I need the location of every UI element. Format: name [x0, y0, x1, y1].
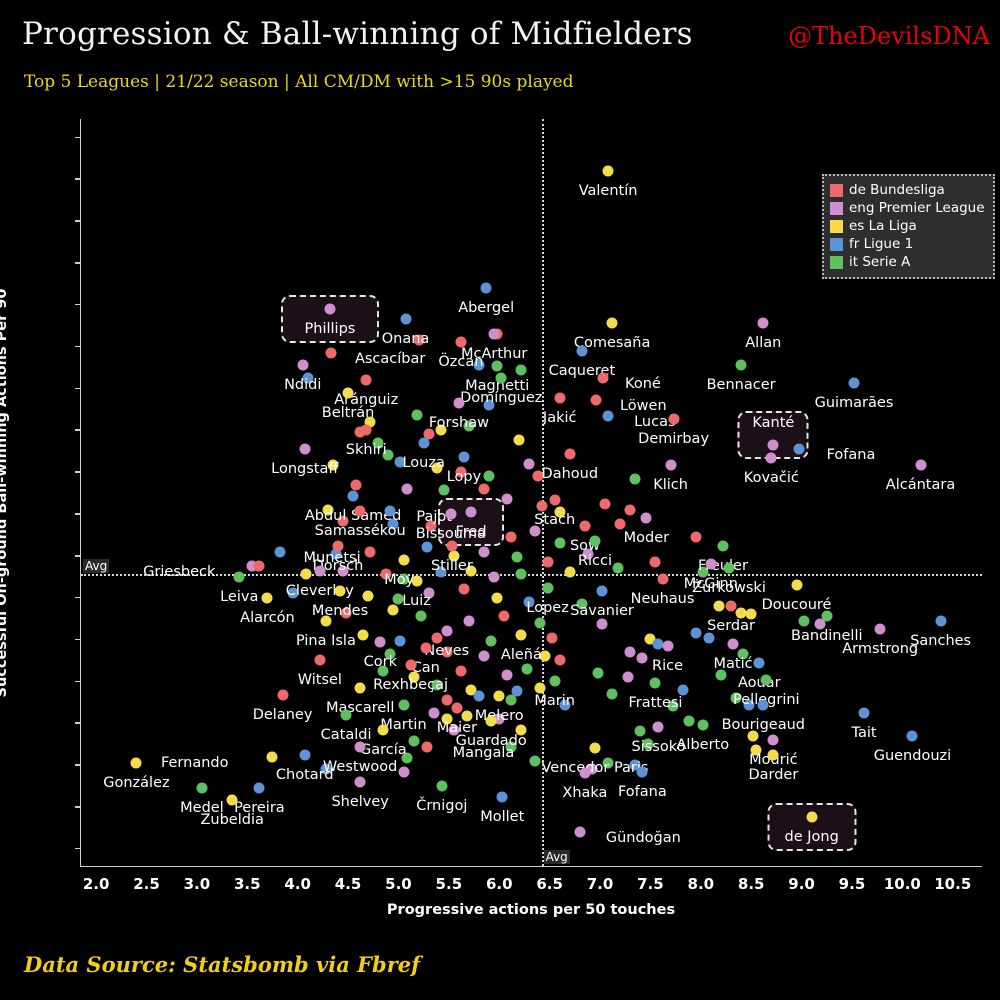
point-label: Sissoko: [631, 739, 685, 755]
scatter-point[interactable]: [455, 666, 466, 677]
point-label: Shelvey: [331, 794, 388, 810]
scatter-point[interactable]: [724, 563, 735, 574]
scatter-point[interactable]: [607, 688, 618, 699]
scatter-point[interactable]: [529, 755, 540, 766]
scatter-point[interactable]: [534, 682, 545, 693]
scatter-point[interactable]: [438, 485, 449, 496]
scatter-point[interactable]: [705, 559, 716, 570]
average-y-line: [81, 574, 982, 576]
scatter-point[interactable]: [196, 783, 207, 794]
scatter-point[interactable]: [564, 448, 575, 459]
point-label: Frattesi: [628, 695, 682, 711]
scatter-point[interactable]: [446, 540, 457, 551]
scatter-point[interactable]: [365, 546, 376, 557]
y-axis-tick-mark: [75, 681, 81, 683]
page-subtitle: Top 5 Leagues | 21/22 season | All CM/DM…: [24, 72, 574, 92]
point-label: Moder: [624, 530, 669, 546]
scatter-point[interactable]: [761, 674, 772, 685]
scatter-point[interactable]: [598, 372, 609, 383]
scatter-point[interactable]: [479, 546, 490, 557]
point-label: Löwen: [620, 398, 667, 414]
scatter-point[interactable]: [405, 659, 416, 670]
scatter-point[interactable]: [492, 592, 503, 603]
scatter-point[interactable]: [395, 636, 406, 647]
scatter-point[interactable]: [484, 471, 495, 482]
scatter-point[interactable]: [697, 719, 708, 730]
scatter-point[interactable]: [635, 726, 646, 737]
scatter-point[interactable]: [600, 498, 611, 509]
scatter-point[interactable]: [662, 641, 673, 652]
y-axis-label: Successful On-ground Ball-winning Action…: [0, 119, 14, 867]
point-label: Aleñá: [501, 647, 542, 663]
scatter-point[interactable]: [576, 345, 587, 356]
point-label: Bennacer: [707, 377, 776, 393]
legend-label: fr Ligue 1: [849, 236, 913, 252]
x-axis-tick: 2.5: [133, 875, 160, 893]
point-label: Munetsi: [304, 550, 361, 566]
point-label: Leiva: [220, 589, 258, 605]
scatter-point[interactable]: [668, 414, 679, 425]
scatter-point[interactable]: [546, 632, 557, 643]
scatter-point[interactable]: [453, 398, 464, 409]
x-axis-tick: 7.5: [637, 875, 664, 893]
scatter-point[interactable]: [875, 624, 886, 635]
scatter-point[interactable]: [486, 716, 497, 727]
scatter-point[interactable]: [299, 443, 310, 454]
point-label: Jakić: [543, 410, 577, 426]
scatter-point[interactable]: [489, 571, 500, 582]
x-axis-tick: 4.5: [335, 875, 362, 893]
scatter-point[interactable]: [363, 590, 374, 601]
scatter-point[interactable]: [398, 699, 409, 710]
point-label: Fernando: [161, 755, 229, 771]
y-axis-tick-mark: [75, 388, 81, 390]
scatter-point[interactable]: [542, 557, 553, 568]
scatter-point[interactable]: [320, 616, 331, 627]
scatter-point[interactable]: [522, 663, 533, 674]
scatter-point[interactable]: [455, 336, 466, 347]
scatter-point[interactable]: [436, 780, 447, 791]
scatter-point[interactable]: [766, 452, 777, 463]
scatter-point[interactable]: [791, 580, 802, 591]
legend-item[interactable]: fr Ligue 1: [830, 235, 985, 253]
point-label: Lopy: [447, 469, 481, 485]
scatter-point[interactable]: [534, 617, 545, 628]
y-axis-tick-mark: [75, 429, 81, 431]
point-label: Kovačić: [744, 470, 799, 486]
point-label: Stach: [534, 512, 575, 528]
scatter-point[interactable]: [589, 535, 600, 546]
scatter-point[interactable]: [300, 569, 311, 580]
x-axis-tick: 5.0: [385, 875, 412, 893]
scatter-point[interactable]: [637, 766, 648, 777]
legend-label: eng Premier League: [849, 200, 985, 216]
point-label: Luiz: [402, 593, 431, 609]
point-label: Beltrán: [322, 405, 375, 421]
y-axis-tick-mark: [75, 137, 81, 139]
scatter-point[interactable]: [474, 691, 485, 702]
scatter-point[interactable]: [375, 636, 386, 647]
x-axis-tick: 10.0: [884, 875, 921, 893]
scatter-point[interactable]: [713, 600, 724, 611]
scatter-point[interactable]: [506, 532, 517, 543]
scatter-point[interactable]: [935, 616, 946, 627]
point-label: Louza: [402, 455, 444, 471]
scatter-point[interactable]: [355, 741, 366, 752]
scatter-point[interactable]: [650, 557, 661, 568]
scatter-point[interactable]: [458, 452, 469, 463]
y-axis-tick-mark: [75, 220, 81, 222]
scatter-point[interactable]: [859, 708, 870, 719]
scatter-point[interactable]: [690, 627, 701, 638]
point-label: García: [360, 742, 407, 758]
scatter-point[interactable]: [254, 783, 265, 794]
scatter-point[interactable]: [623, 672, 634, 683]
x-axis-tick: 7.0: [587, 875, 614, 893]
scatter-point[interactable]: [613, 563, 624, 574]
scatter-point[interactable]: [542, 582, 553, 593]
scatter-point[interactable]: [234, 571, 245, 582]
legend-label: es La Liga: [849, 218, 917, 234]
scatter-point[interactable]: [415, 610, 426, 621]
scatter-point[interactable]: [335, 585, 346, 596]
scatter-point[interactable]: [401, 483, 412, 494]
scatter-point[interactable]: [385, 506, 396, 517]
x-axis-tick: 6.0: [486, 875, 513, 893]
scatter-point[interactable]: [806, 811, 817, 822]
scatter-point[interactable]: [497, 791, 508, 802]
point-label: Ascacíbar: [355, 351, 425, 367]
point-label: Lopez: [526, 600, 568, 616]
scatter-point[interactable]: [514, 435, 525, 446]
scatter-point[interactable]: [355, 506, 366, 517]
scatter-point[interactable]: [314, 655, 325, 666]
scatter-point[interactable]: [421, 542, 432, 553]
data-source-note: Data Source: Statsbomb via Fbref: [24, 952, 420, 977]
point-label: Kanté: [752, 415, 794, 431]
scatter-point[interactable]: [615, 518, 626, 529]
scatter-point[interactable]: [227, 795, 238, 806]
scatter-point[interactable]: [398, 554, 409, 565]
scatter-point[interactable]: [665, 460, 676, 471]
scatter-point[interactable]: [267, 751, 278, 762]
chart-root: Progression & Ball-winning of Midfielder…: [0, 0, 1000, 1000]
point-label: Guimarães: [815, 395, 894, 411]
scatter-point[interactable]: [262, 592, 273, 603]
scatter-point[interactable]: [131, 758, 142, 769]
y-axis-tick-mark: [75, 304, 81, 306]
scatter-point[interactable]: [625, 504, 636, 515]
x-axis-tick: 8.5: [738, 875, 765, 893]
scatter-point[interactable]: [607, 318, 618, 329]
point-label: Rexhbeçaj: [373, 677, 448, 693]
scatter-point[interactable]: [277, 690, 288, 701]
scatter-point[interactable]: [441, 694, 452, 705]
legend: de Bundesligaeng Premier Leaguees La Lig…: [822, 174, 995, 279]
scatter-point[interactable]: [355, 776, 366, 787]
point-label: Allan: [745, 335, 781, 351]
y-axis-tick-mark: [75, 597, 81, 599]
point-label: Ricci: [578, 553, 612, 569]
point-label: Pina Isla: [296, 633, 356, 649]
y-axis-tick-mark: [75, 764, 81, 766]
point-label: Mendes: [312, 603, 368, 619]
x-axis-label: Progressive actions per 50 touches: [80, 902, 982, 918]
scatter-point[interactable]: [717, 540, 728, 551]
point-label: Demirbay: [638, 431, 709, 447]
scatter-point[interactable]: [593, 667, 604, 678]
point-label: Savanier: [570, 603, 634, 619]
point-label: Serdar: [707, 618, 755, 634]
average-x-line: [542, 119, 544, 866]
scatter-point[interactable]: [502, 493, 513, 504]
scatter-point[interactable]: [589, 743, 600, 754]
scatter-point[interactable]: [625, 646, 636, 657]
scatter-point[interactable]: [653, 722, 664, 733]
scatter-point[interactable]: [683, 716, 694, 727]
scatter-point[interactable]: [494, 691, 505, 702]
point-label: Vencedor Paris: [542, 760, 649, 776]
legend-swatch: [830, 220, 843, 233]
point-label: Żurkowski: [692, 580, 766, 596]
scatter-point[interactable]: [332, 540, 343, 551]
point-label: Abergel: [458, 300, 514, 316]
average-y-label: Avg: [83, 559, 109, 573]
point-label: Doucouré: [762, 597, 832, 613]
x-axis-tick: 3.0: [184, 875, 211, 893]
scatter-point[interactable]: [574, 826, 585, 837]
scatter-point[interactable]: [388, 605, 399, 616]
point-label: Witsel: [298, 672, 342, 688]
scatter-point[interactable]: [726, 600, 737, 611]
scatter-point[interactable]: [512, 552, 523, 563]
point-label: Armstrong: [842, 641, 918, 657]
y-axis-tick-mark: [75, 471, 81, 473]
scatter-point[interactable]: [516, 365, 527, 376]
x-axis-tick: 6.5: [536, 875, 563, 893]
scatter-point[interactable]: [657, 574, 668, 585]
scatter-point[interactable]: [499, 610, 510, 621]
x-axis-tick: 2.0: [83, 875, 110, 893]
point-label: Matić: [714, 656, 753, 672]
scatter-point[interactable]: [579, 768, 590, 779]
point-label: Forshaw: [429, 415, 489, 431]
scatter-point[interactable]: [358, 630, 369, 641]
scatter-point[interactable]: [736, 359, 747, 370]
legend-item[interactable]: eng Premier League: [830, 199, 985, 217]
scatter-point[interactable]: [445, 508, 456, 519]
point-label: Marin: [534, 693, 575, 709]
scatter-point[interactable]: [549, 676, 560, 687]
scatter-point[interactable]: [768, 734, 779, 745]
average-x-label: Avg: [544, 850, 570, 864]
x-axis-tick: 4.0: [284, 875, 311, 893]
scatter-point[interactable]: [361, 425, 372, 436]
scatter-point[interactable]: [343, 388, 354, 399]
point-label: Guendouzi: [874, 748, 951, 764]
point-label: Domínguez: [460, 390, 542, 406]
point-label: Phillips: [305, 321, 356, 337]
point-label: Zubeldia: [200, 812, 263, 828]
legend-label: it Serie A: [849, 254, 910, 270]
scatter-point[interactable]: [650, 677, 661, 688]
legend-swatch: [830, 256, 843, 269]
scatter-point[interactable]: [418, 437, 429, 448]
scatter-point[interactable]: [400, 313, 411, 324]
point-label: González: [103, 775, 169, 791]
point-label: de Jong: [785, 829, 839, 845]
y-axis-tick-mark: [75, 722, 81, 724]
scatter-point[interactable]: [690, 532, 701, 543]
y-axis-tick-mark: [75, 806, 81, 808]
point-label: Aouar: [738, 675, 781, 691]
scatter-point[interactable]: [554, 393, 565, 404]
scatter-point[interactable]: [579, 521, 590, 532]
scatter-point[interactable]: [464, 616, 475, 627]
scatter-point[interactable]: [758, 318, 769, 329]
scatter-point[interactable]: [554, 655, 565, 666]
scatter-point[interactable]: [677, 684, 688, 695]
scatter-point[interactable]: [907, 730, 918, 741]
point-label: Ndidi: [284, 377, 321, 393]
scatter-point[interactable]: [603, 411, 614, 422]
point-label: Črnigoj: [416, 798, 467, 814]
scatter-point[interactable]: [481, 283, 492, 294]
scatter-point[interactable]: [597, 619, 608, 630]
scatter-point[interactable]: [348, 490, 359, 501]
y-axis-tick-mark: [75, 848, 81, 850]
scatter-point[interactable]: [299, 749, 310, 760]
scatter-point[interactable]: [821, 610, 832, 621]
point-label: Tait: [852, 725, 877, 741]
scatter-point[interactable]: [489, 329, 500, 340]
scatter-point[interactable]: [411, 575, 422, 586]
scatter-point[interactable]: [441, 626, 452, 637]
scatter-point[interactable]: [297, 359, 308, 370]
point-label: Bourigeaud: [722, 717, 805, 733]
point-label: Alcántara: [886, 477, 955, 493]
point-label: Delaney: [253, 707, 313, 723]
scatter-point[interactable]: [597, 585, 608, 596]
point-label: Cork: [364, 654, 397, 670]
legend-item[interactable]: es La Liga: [830, 217, 985, 235]
y-axis-tick-mark: [75, 178, 81, 180]
scatter-point[interactable]: [274, 546, 285, 557]
scatter-point[interactable]: [421, 741, 432, 752]
x-axis-tick: 3.5: [234, 875, 261, 893]
point-label: Gündoğan: [606, 830, 681, 846]
scatter-point[interactable]: [798, 616, 809, 627]
author-handle: @TheDevilsDNA: [788, 22, 990, 50]
point-label: Griesbeck: [143, 564, 215, 580]
x-axis-tick: 10.5: [934, 875, 971, 893]
y-axis-tick-mark: [75, 513, 81, 515]
point-label: Onana: [382, 331, 430, 347]
scatter-point[interactable]: [411, 410, 422, 421]
point-label: Fofana: [827, 447, 876, 463]
scatter-point[interactable]: [915, 460, 926, 471]
scatter-point[interactable]: [754, 657, 765, 668]
scatter-point[interactable]: [486, 636, 497, 647]
point-label: Sanches: [910, 633, 971, 649]
scatter-point[interactable]: [768, 749, 779, 760]
scatter-point[interactable]: [554, 538, 565, 549]
legend-item[interactable]: it Serie A: [830, 253, 985, 271]
point-label: Stiller: [431, 558, 473, 574]
point-label: Mollet: [480, 809, 524, 825]
scatter-point[interactable]: [420, 642, 431, 653]
scatter-point[interactable]: [590, 395, 601, 406]
point-label: Fred: [455, 524, 486, 540]
scatter-point[interactable]: [728, 638, 739, 649]
point-label: Cataldi: [321, 727, 372, 743]
scatter-point[interactable]: [431, 632, 442, 643]
legend-swatch: [830, 202, 843, 215]
scatter-point[interactable]: [361, 375, 372, 386]
scatter-point[interactable]: [549, 494, 560, 505]
scatter-point[interactable]: [502, 669, 513, 680]
scatter-point[interactable]: [492, 360, 503, 371]
scatter-point[interactable]: [398, 766, 409, 777]
x-axis-tick: 5.5: [436, 875, 463, 893]
scatter-point[interactable]: [758, 699, 769, 710]
scatter-point[interactable]: [516, 569, 527, 580]
legend-item[interactable]: de Bundesliga: [830, 181, 985, 199]
y-axis-tick-mark: [75, 639, 81, 641]
point-label: Fofana: [618, 784, 667, 800]
scatter-point[interactable]: [496, 373, 507, 384]
point-label: Dahoud: [542, 466, 599, 482]
point-label: Klich: [653, 477, 688, 493]
scatter-point[interactable]: [506, 694, 517, 705]
scatter-point[interactable]: [524, 458, 535, 469]
scatter-point[interactable]: [793, 443, 804, 454]
scatter-point[interactable]: [630, 473, 641, 484]
scatter-point[interactable]: [637, 652, 648, 663]
point-label: Özcan: [438, 354, 483, 370]
scatter-point[interactable]: [378, 724, 389, 735]
scatter-point[interactable]: [428, 708, 439, 719]
legend-swatch: [830, 238, 843, 251]
scatter-point[interactable]: [536, 500, 547, 511]
scatter-point[interactable]: [458, 584, 469, 595]
scatter-point[interactable]: [768, 440, 779, 451]
point-label: Longstaff: [271, 461, 338, 477]
scatter-point[interactable]: [324, 303, 335, 314]
x-axis-tick: 9.0: [788, 875, 815, 893]
scatter-point[interactable]: [355, 682, 366, 693]
scatter-point[interactable]: [325, 348, 336, 359]
scatter-point[interactable]: [479, 651, 490, 662]
scatter-point[interactable]: [351, 479, 362, 490]
point-label: Xhaka: [562, 785, 607, 801]
scatter-point[interactable]: [408, 736, 419, 747]
scatter-point[interactable]: [314, 565, 325, 576]
scatter-point[interactable]: [564, 567, 575, 578]
scatter-point[interactable]: [466, 507, 477, 518]
scatter-point[interactable]: [341, 709, 352, 720]
page-title: Progression & Ball-winning of Midfielder…: [22, 16, 693, 52]
scatter-point[interactable]: [451, 703, 462, 714]
scatter-point[interactable]: [641, 513, 652, 524]
scatter-point[interactable]: [254, 560, 265, 571]
scatter-point[interactable]: [516, 630, 527, 641]
scatter-point[interactable]: [603, 165, 614, 176]
point-label: Neuhaus: [631, 591, 695, 607]
scatter-point[interactable]: [848, 377, 859, 388]
point-label: Skhiri: [346, 442, 387, 458]
point-label: Mangala: [453, 745, 515, 761]
